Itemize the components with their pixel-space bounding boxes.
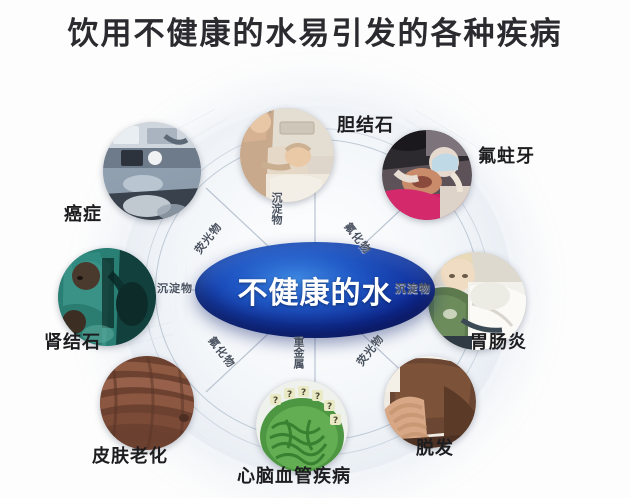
cancer-label: 癌症	[64, 200, 102, 226]
svg-text:?: ?	[327, 402, 332, 412]
hair-loss-label: 脱发	[416, 434, 454, 460]
cardiovascular-photo: ? ? ? ? ? ?	[256, 380, 348, 472]
kidney-stones-label: 肾结石	[44, 328, 101, 354]
diagram-stage: 癌症	[0, 84, 630, 498]
fluorosis-photo	[382, 130, 472, 220]
skin-aging-photo	[100, 356, 194, 450]
svg-text:?: ?	[301, 388, 306, 398]
cancer-photo	[103, 122, 201, 220]
infographic-page: 饮用不健康的水易引发的各种疾病	[0, 0, 630, 498]
fluorosis-label: 氟蛀牙	[478, 142, 535, 168]
cardiovascular-label: 心脑血管疾病	[237, 462, 351, 488]
svg-text:?: ?	[287, 390, 292, 400]
gastroenteritis-label: 胃肠炎	[470, 328, 527, 354]
spoke-label-bottom: 重金属	[290, 336, 306, 369]
svg-text:?: ?	[315, 392, 320, 402]
skin-aging-label: 皮肤老化	[92, 442, 168, 468]
gallstones-photo	[240, 108, 334, 202]
hub-label: 不健康的水	[238, 268, 393, 312]
spoke-label-top: 沉淀物	[268, 192, 284, 225]
spoke-label-left: 沉淀物	[157, 280, 193, 296]
svg-text:?: ?	[273, 396, 278, 406]
spoke-label-right: 沉淀物	[395, 280, 431, 296]
svg-text:?: ?	[333, 416, 338, 426]
gallstones-label: 胆结石	[337, 111, 394, 137]
page-title: 饮用不健康的水易引发的各种疾病	[0, 14, 630, 54]
